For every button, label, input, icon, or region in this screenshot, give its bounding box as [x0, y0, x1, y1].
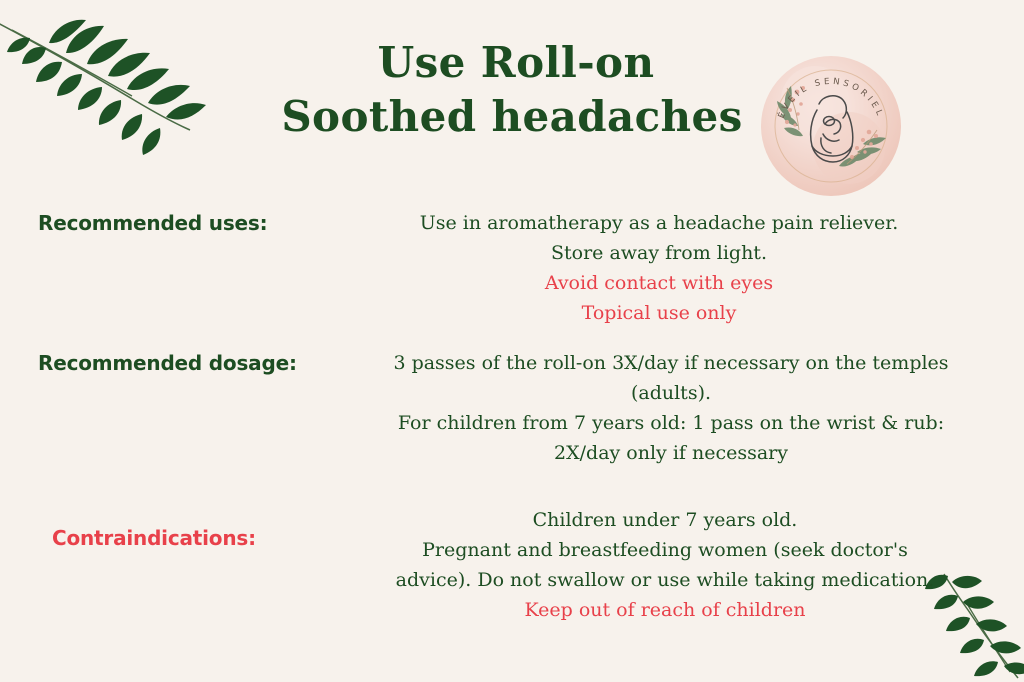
section-body-contraindications: Children under 7 years old. Pregnant and…	[342, 505, 1024, 625]
section-contraindications: Contraindications: Children under 7 year…	[0, 505, 1024, 625]
body-line: (adults).	[328, 378, 1014, 408]
section-body-recommended-dosage: 3 passes of the roll-on 3X/day if necess…	[328, 348, 1024, 468]
section-recommended-uses: Recommended uses: Use in aromatherapy as…	[0, 208, 1024, 328]
olive-branch-icon	[0, 8, 209, 173]
brand-logo: ÉVEIL SENSORIEL	[757, 52, 905, 200]
body-line: 2X/day only if necessary	[328, 438, 1014, 468]
body-line: Pregnant and breastfeeding women (seek d…	[342, 535, 988, 565]
section-label-recommended-dosage: Recommended dosage:	[0, 348, 328, 378]
body-line: Children under 7 years old.	[342, 505, 988, 535]
section-recommended-dosage: Recommended dosage: 3 passes of the roll…	[0, 348, 1024, 468]
body-line: Store away from light.	[328, 238, 990, 268]
body-line: advice). Do not swallow or use while tak…	[342, 565, 988, 595]
body-line: For children from 7 years old: 1 pass on…	[328, 408, 1014, 438]
section-body-recommended-uses: Use in aromatherapy as a headache pain r…	[328, 208, 1024, 328]
body-line-warning: Keep out of reach of children	[342, 595, 988, 625]
body-line-warning: Avoid contact with eyes	[328, 268, 990, 298]
body-line: Use in aromatherapy as a headache pain r…	[328, 208, 990, 238]
body-line-warning: Topical use only	[328, 298, 990, 328]
section-label-contraindications: Contraindications:	[0, 523, 342, 553]
section-label-recommended-uses: Recommended uses:	[0, 208, 328, 238]
poster-canvas: ÉVEIL SENSORIEL Use Roll-on Soothed head…	[0, 0, 1024, 682]
body-line: 3 passes of the roll-on 3X/day if necess…	[328, 348, 1014, 378]
